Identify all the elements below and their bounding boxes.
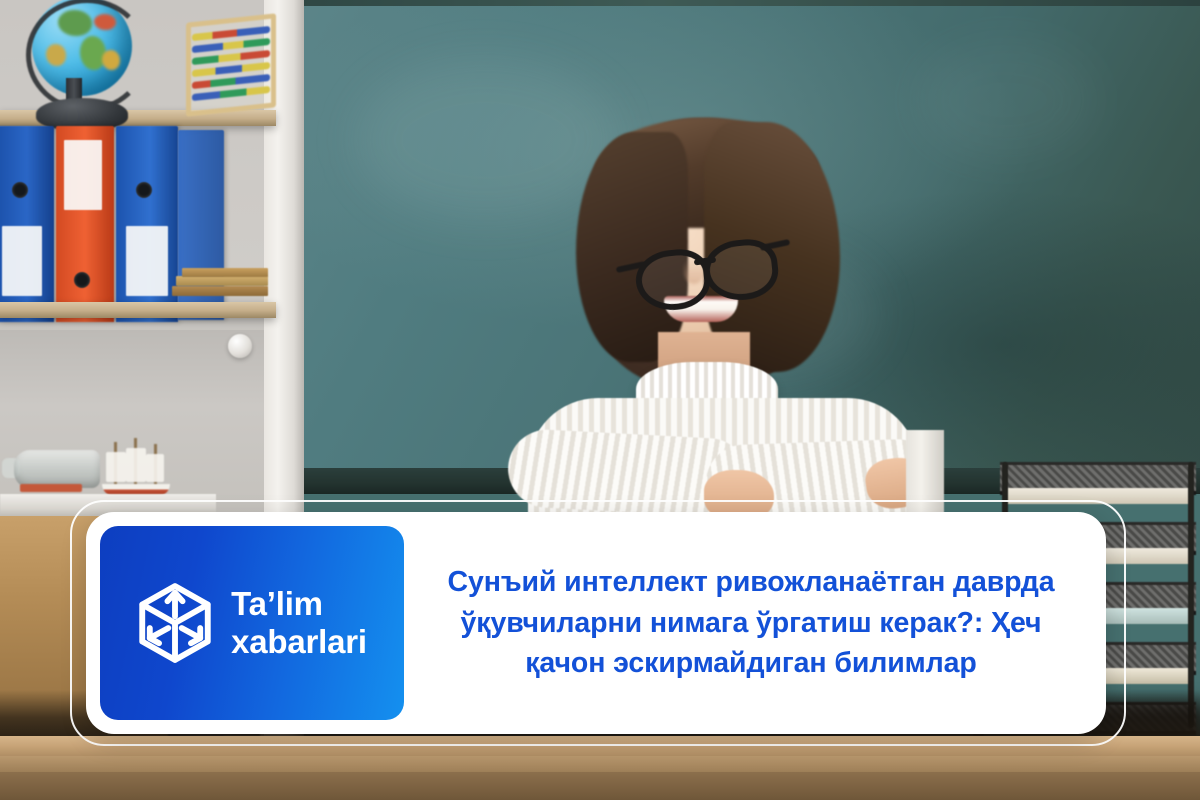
brand-logo-panel[interactable]: Ta’lim xabarlari bbox=[100, 526, 404, 720]
article-headline: Сунъий интеллект ривожланаётган даврда ў… bbox=[426, 562, 1076, 683]
hair-left-side bbox=[576, 132, 688, 362]
headline-container: Сунъий интеллект ривожланаётган даврда ў… bbox=[404, 512, 1106, 734]
cube-outline-icon bbox=[133, 581, 217, 665]
headline-card[interactable]: Ta’lim xabarlari Сунъий интеллект ривожл… bbox=[86, 512, 1106, 734]
brand-name-line-2: xabarlari bbox=[231, 623, 367, 661]
abacus bbox=[186, 18, 276, 112]
ship-in-bottle bbox=[14, 450, 100, 488]
model-sailing-ship bbox=[100, 442, 172, 498]
door-knob bbox=[228, 334, 252, 358]
teacher bbox=[508, 118, 928, 548]
brand-wordmark: Ta’lim xabarlari bbox=[231, 585, 367, 662]
globe bbox=[14, 14, 154, 130]
desk-front bbox=[0, 772, 1200, 800]
desk-surface bbox=[0, 736, 1200, 758]
chalkboard-frame-top bbox=[296, 0, 1200, 6]
article-card-image: Ta’lim xabarlari Сунъий интеллект ривожл… bbox=[0, 0, 1200, 800]
shelf-lower bbox=[0, 302, 276, 318]
brand-name-line-1: Ta’lim bbox=[231, 585, 367, 623]
globe-meridian-ring bbox=[26, 0, 148, 112]
bottle-stand bbox=[20, 484, 82, 492]
